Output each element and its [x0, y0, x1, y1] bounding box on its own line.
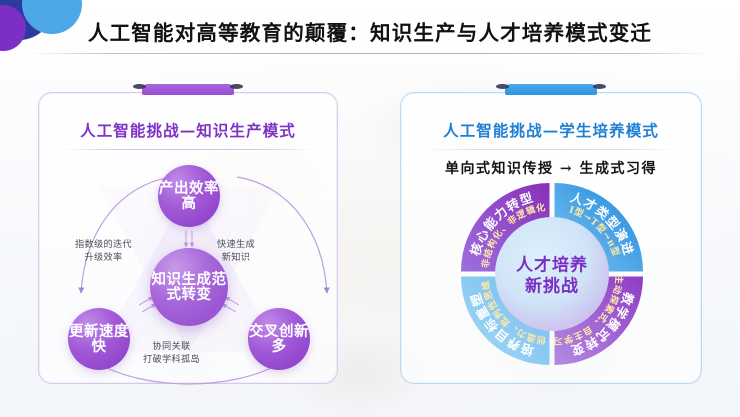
node-update-speed[interactable]: 更新速度快 — [68, 308, 130, 370]
left-panel-title: 人工智能挑战—知识生产模式 — [39, 119, 337, 141]
edge-label-bottom: 协同关联 打破学科孤岛 — [143, 341, 200, 367]
panel-tab-purple — [142, 84, 234, 95]
right-panel-divider — [423, 149, 679, 150]
panel-knowledge-production: 人工智能挑战—知识生产模式 — [38, 92, 338, 384]
edge-label-top-left-line2: 升级效率 — [75, 252, 132, 265]
slide-title: 人工智能对高等教育的颠覆：知识生产与人才培养模式变迁 — [0, 16, 740, 46]
panel-student-development: 人工智能挑战—学生培养模式 单向式知识传授 → 生成式习得 — [400, 92, 702, 384]
edge-label-bottom-line1: 协同关联 — [143, 341, 200, 354]
title-underline-rule — [30, 53, 710, 54]
edge-label-top-right: 快速生成 新知识 — [217, 239, 255, 265]
donut-inner-disc — [495, 217, 609, 331]
edge-label-top-left: 指数级的迭代 升级效率 — [75, 239, 132, 265]
node-output-efficiency[interactable]: 产出效率高 — [158, 165, 220, 227]
right-panel-title: 人工智能挑战—学生培养模式 — [401, 119, 701, 141]
edge-label-bottom-line2: 打破学科孤岛 — [143, 354, 200, 367]
panel-tab-blue — [505, 84, 597, 95]
edge-label-top-right-line1: 快速生成 — [217, 239, 255, 252]
donut-diagram: 核心能力转型 非结构化、非逻辑化 人才类型演进 I型→T型→π型 教学模式转变 — [401, 171, 703, 381]
node-cross-innovation[interactable]: 交叉创新多 — [248, 308, 310, 370]
edge-label-top-left-line1: 指数级的迭代 — [75, 239, 132, 252]
node-output-efficiency-label: 产出效率高 — [158, 181, 220, 212]
triangle-diagram: 产出效率高 更新速度快 交叉创新多 知识生成范式转变 指数级的迭代 升级效率 快… — [39, 155, 339, 383]
slide-canvas: 人工智能对高等教育的颠覆：知识生产与人才培养模式变迁 人工智能挑战—知识生产模式 — [0, 0, 740, 417]
slide-header: 人工智能对高等教育的颠覆：知识生产与人才培养模式变迁 — [0, 12, 740, 56]
node-cross-innovation-label: 交叉创新多 — [248, 324, 310, 355]
left-panel-divider — [61, 149, 315, 150]
node-update-speed-label: 更新速度快 — [68, 324, 130, 355]
edge-label-top-right-line2: 新知识 — [217, 252, 255, 265]
node-paradigm-shift-label: 知识生成范式转变 — [150, 272, 228, 303]
